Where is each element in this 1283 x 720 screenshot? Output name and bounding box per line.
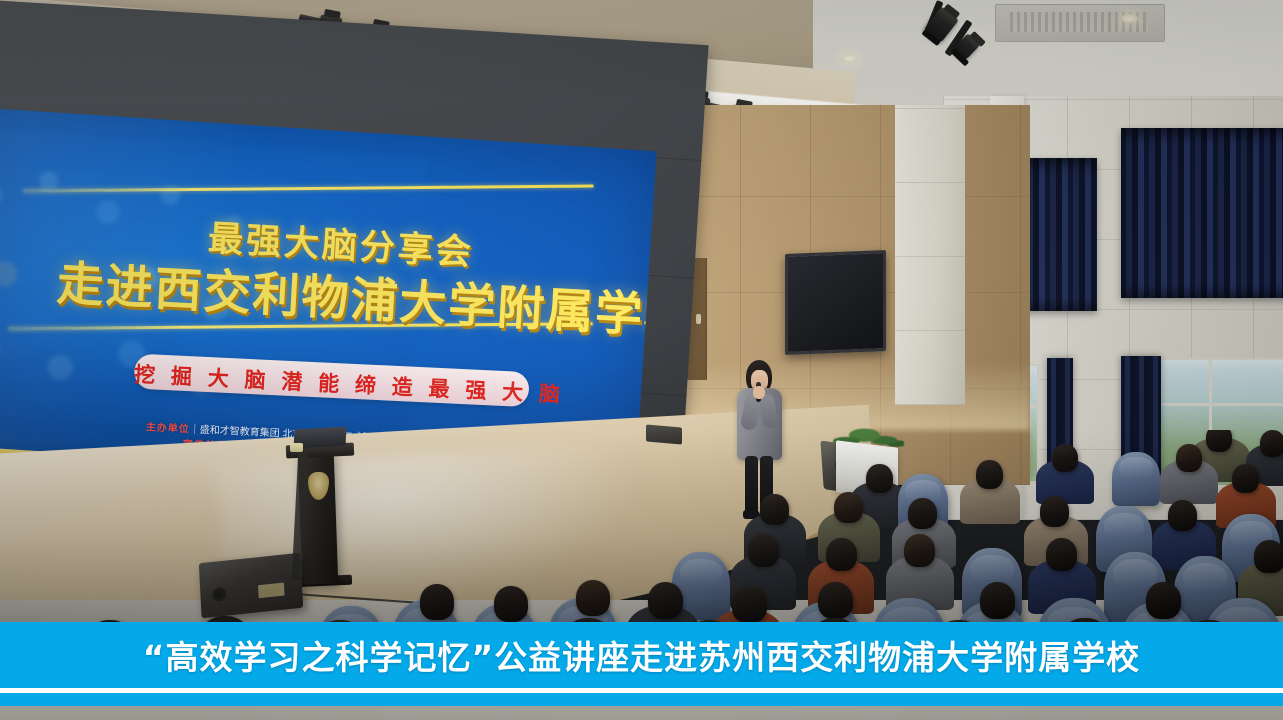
audience-member-head	[748, 534, 779, 567]
upper-window-curtain-right	[1121, 128, 1283, 298]
audience-member-head	[576, 580, 610, 616]
seat	[1112, 452, 1160, 506]
audience-member-head	[1040, 496, 1069, 527]
audience-member-head	[1046, 538, 1077, 571]
audience-member-head	[760, 494, 789, 525]
audience-member-head	[1254, 540, 1283, 573]
caption-bar: “高效学习之科学记忆”公益讲座走进苏州西交利物浦大学附属学校	[0, 622, 1283, 688]
audience-member-head	[1176, 444, 1202, 472]
audience-member-head	[1168, 500, 1197, 531]
audience-member-head	[494, 586, 528, 622]
downlight-3	[1121, 14, 1138, 23]
audience-member-head	[904, 534, 935, 567]
stage-side-panel	[895, 105, 965, 405]
audience-member-head	[732, 586, 767, 623]
audience-member-head	[1146, 582, 1181, 619]
audience-member-head	[834, 492, 863, 523]
audience-member-head	[648, 582, 683, 619]
audience-member-head	[908, 498, 937, 529]
presenter-hand	[753, 386, 765, 399]
ceiling-air-vent	[995, 4, 1165, 42]
audience-member-head	[420, 584, 454, 620]
audience-member-head	[1052, 444, 1078, 472]
audience-seating	[0, 430, 1283, 625]
caption-text: “高效学习之科学记忆”公益讲座走进苏州西交利物浦大学附属学校	[143, 631, 1140, 679]
caption-underbar	[0, 693, 1283, 706]
downlight-1	[841, 54, 858, 63]
wall-display-icon	[785, 250, 886, 355]
audience-member-head	[866, 464, 893, 493]
audience-member-head	[826, 538, 857, 571]
audience-member-head	[1206, 430, 1232, 452]
audience-member-head	[980, 582, 1015, 619]
audience-member-head	[818, 582, 853, 619]
lecture-hall-photo: 最强大脑分享会 走进西交利物浦大学附属学校 挖 掘 大 脑 潜 能 缔 造 最 …	[0, 0, 1283, 720]
audience-member-head	[1232, 464, 1259, 493]
audience-member-head	[976, 460, 1003, 489]
audience-member-head	[1260, 430, 1283, 457]
